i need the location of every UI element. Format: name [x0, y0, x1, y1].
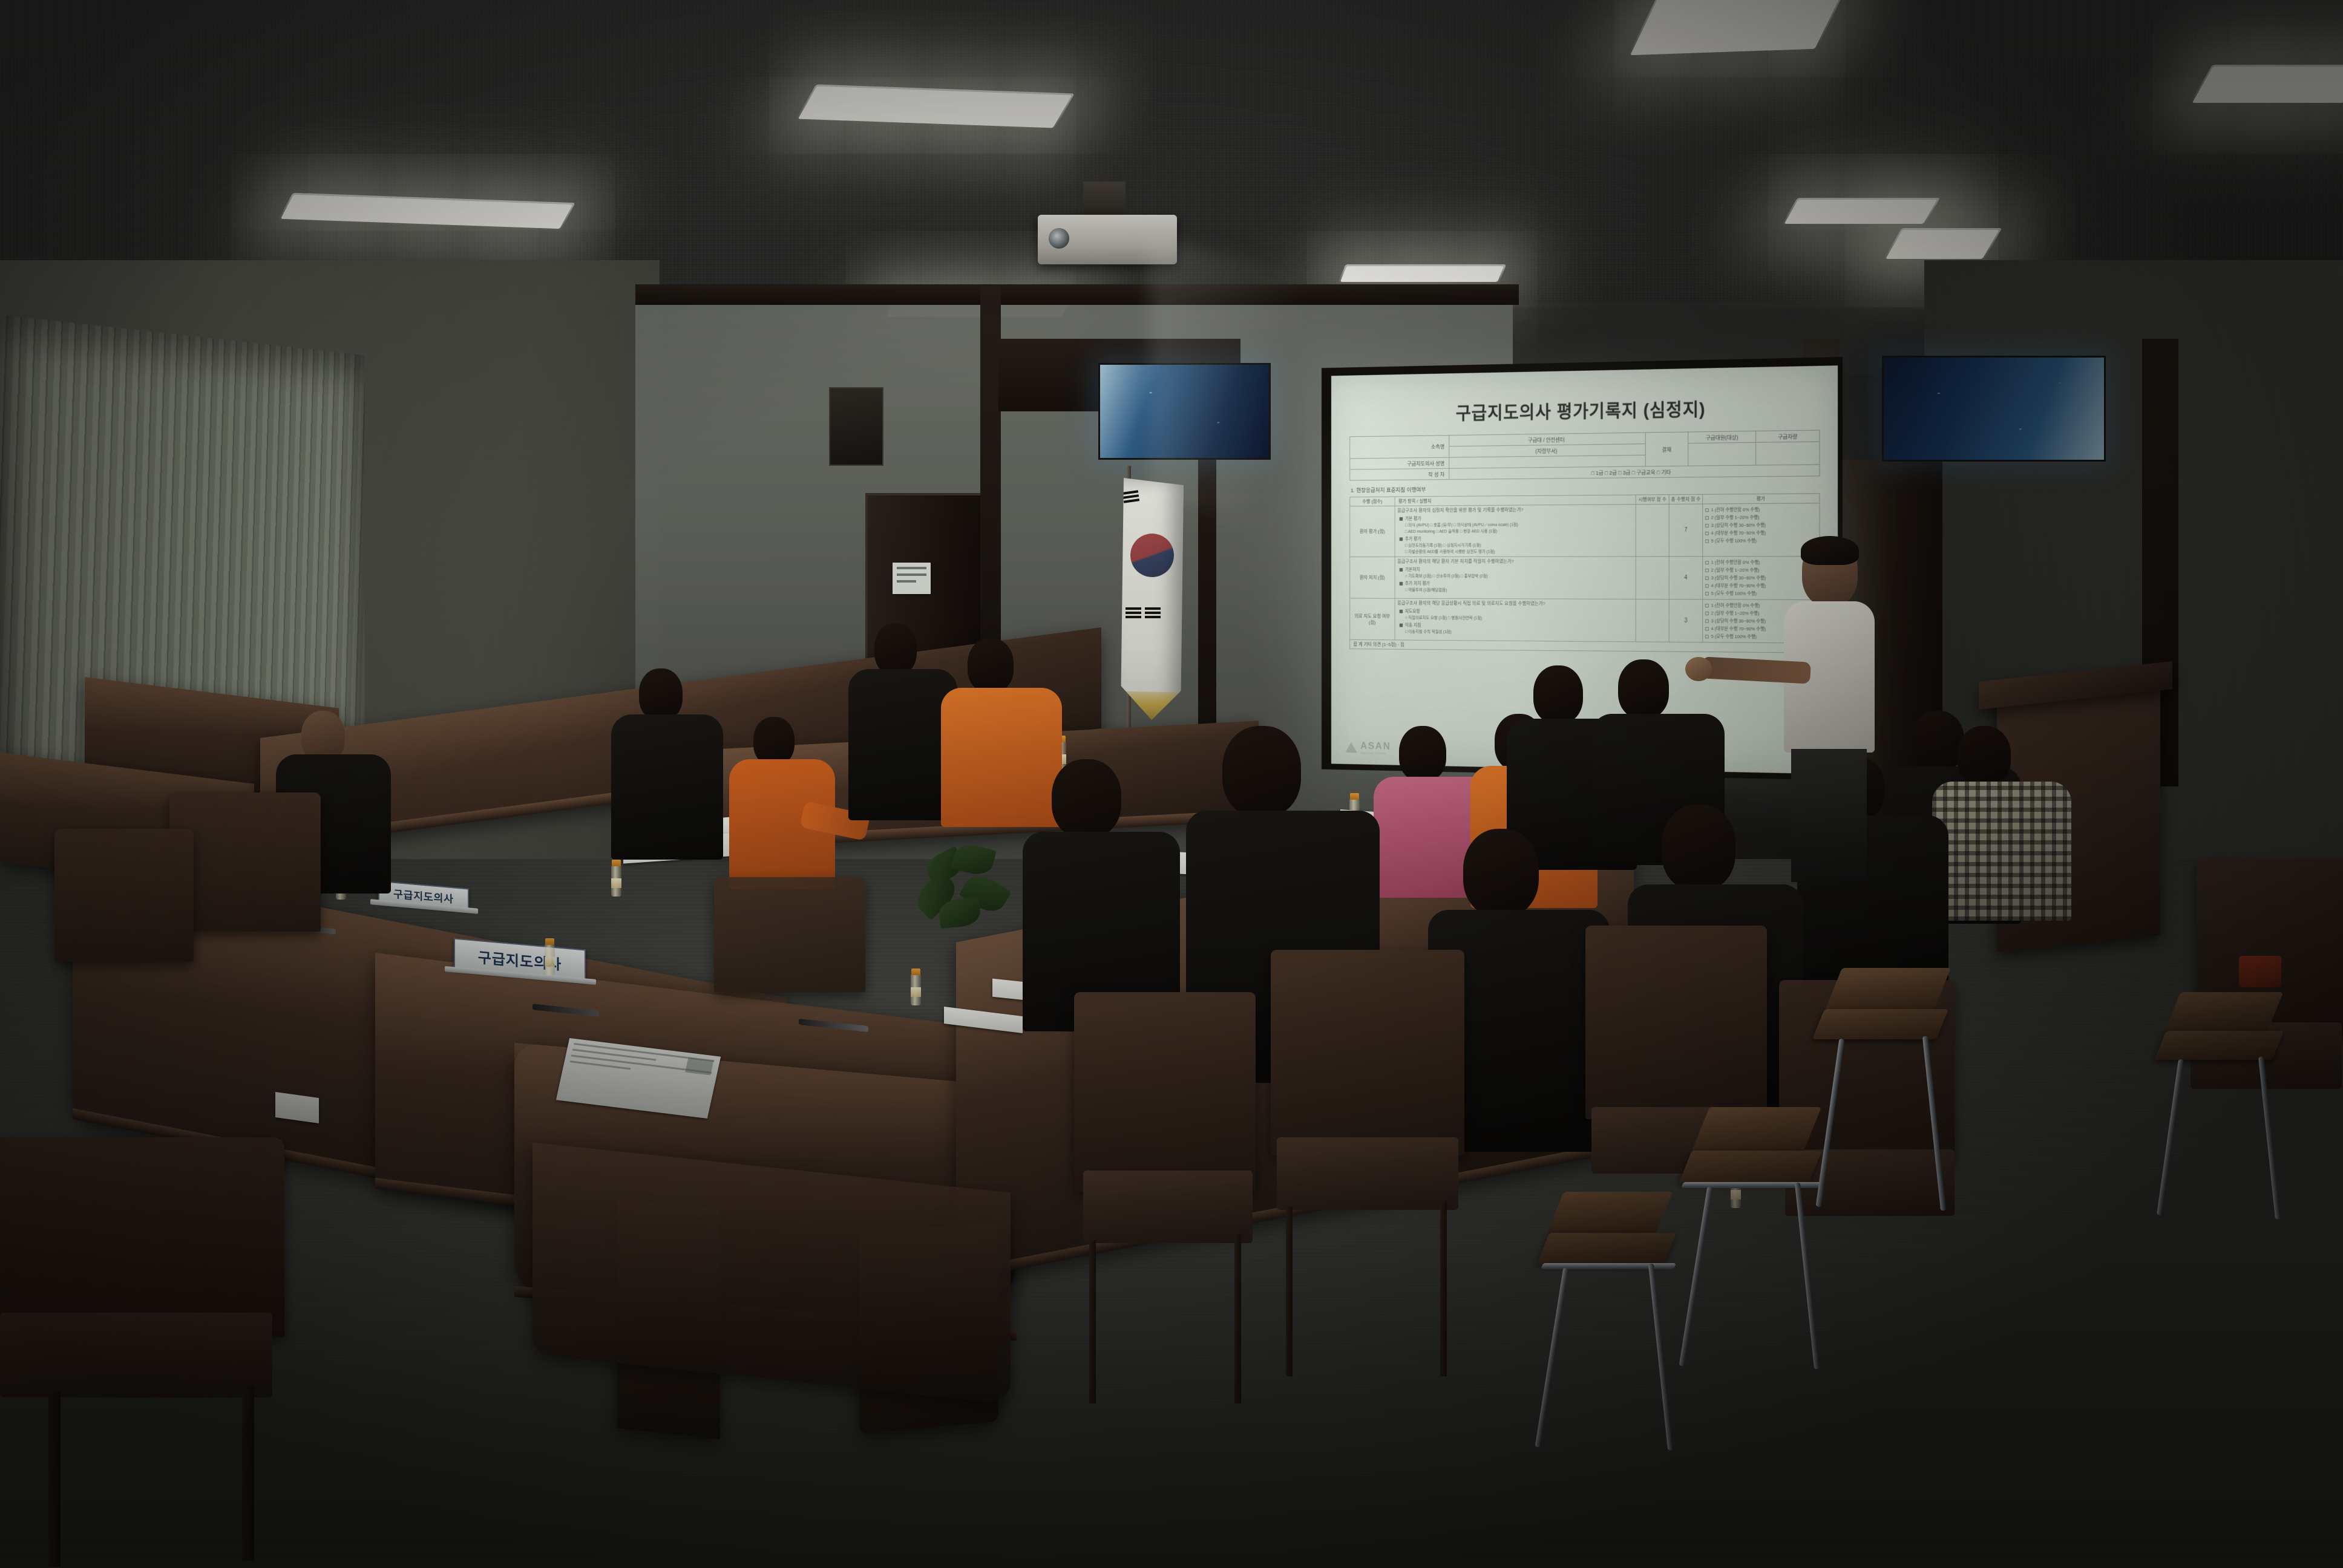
col-head-4: 평가: [1703, 494, 1820, 504]
ceiling-light-1: [1630, 0, 1843, 55]
hdr-cell-approval: 결재: [1645, 432, 1688, 466]
row1-detail: 응급구조사 환자의 해당 환자 기본 처치를 적절히 수행하였는가? 기본처치 …: [1395, 557, 1636, 599]
row1-bullet0-head: 기본처치: [1400, 566, 1633, 573]
row1-opt-2: 3 (상당히 수행 30~60% 수행): [1705, 575, 1817, 581]
wall-trim-horizontal: [635, 284, 1519, 305]
attendee-head: [1052, 759, 1121, 838]
chair-seat[interactable]: [0, 1313, 272, 1397]
ceiling-light-5: [1340, 266, 1504, 282]
slide-content: 구급지도의사 평가기록지 (심정지) 소속명 구급대 / 안전센터 결재 구급대…: [1331, 365, 1838, 774]
col-head-3: 총 수행자 점 수: [1669, 494, 1703, 504]
hdr-row-1-label: 구급지도의사 성명: [1350, 457, 1449, 469]
folding-chair-frame: [1681, 1182, 1823, 1188]
row0-check-score: [1636, 504, 1669, 557]
wooden-armchair[interactable]: [1585, 926, 1767, 1119]
hdr-cell-org: 소속명: [1350, 436, 1449, 459]
row1-bullet1-head: 추가 처치 평가: [1400, 580, 1633, 587]
taeguk-symbol: [1130, 534, 1174, 577]
row0-opt-0: 1 (전혀 수행안함 0% 수행): [1705, 506, 1817, 513]
trigram-top-left: [1122, 490, 1139, 503]
chair-seat[interactable]: [1277, 1137, 1458, 1210]
chair-leg: [242, 1385, 254, 1561]
presenter-hand: [1685, 657, 1712, 681]
hdr-row-2-label: 작 성 자: [1350, 468, 1449, 480]
row2-detail: 응급구조사 환자의 해당 응급상황시 직접 의료 및 의료지도 요청을 수행하였…: [1395, 598, 1636, 642]
chair-leg: [1234, 1234, 1241, 1403]
projector-lens: [1049, 228, 1069, 249]
wooden-armchair[interactable]: [0, 1137, 284, 1337]
row0-bullet0-sub0: □ 의식 (AVPU) □ 호흡 (유/무) □ 의식상태 (AVPU／coma…: [1405, 521, 1633, 528]
row0-opt-1: 2 (일부 수행 1~20% 수행): [1705, 514, 1817, 521]
col-head-2: 시행여부 점 수: [1636, 495, 1669, 505]
wall-speaker: [829, 387, 883, 466]
attendee-head: [1222, 726, 1301, 817]
row1-opt-0: 1 (전혀 수행안함 0% 수행): [1705, 559, 1817, 566]
attendee-body: [1932, 782, 2071, 921]
row1-opt-3: 4 (대부분 수행 70~90% 수행): [1705, 583, 1817, 589]
red-item-on-chair: [2239, 956, 2281, 987]
folding-chair-seat: [1536, 1233, 1676, 1264]
attendee-head: [1911, 711, 1964, 771]
folding-chair-frame: [1541, 1263, 1676, 1269]
potted-plant: [908, 841, 1023, 950]
attendee-head: [753, 717, 795, 765]
projection-screen[interactable]: 구급지도의사 평가기록지 (심정지) 소속명 구급대 / 안전센터 결재 구급대…: [1331, 365, 1838, 774]
ceiling-projector: [1038, 215, 1177, 264]
trigram-bottom-right: [1145, 607, 1161, 618]
folding-chair-back: [1691, 1107, 1821, 1152]
row2-bullet1-sub0: □ 이송지침 수칙 적절성 (1점): [1405, 629, 1633, 636]
projector-mount: [1083, 181, 1126, 219]
hdr-cell-vehicle: 구급차량: [1756, 430, 1820, 442]
ceiling-light-8: [2192, 67, 2343, 103]
chair-leg: [1440, 1201, 1447, 1376]
wooden-armchair[interactable]: [54, 829, 194, 962]
attendee-head: [639, 668, 683, 720]
row0-score: 7: [1669, 504, 1703, 557]
row1-bullet0-sub0: ○ 기도확보 (1점) □ 산소투여 (2점) □ 흉부압박 (2점): [1405, 573, 1633, 580]
attendee-head: [1463, 829, 1539, 916]
slide-table-row: 환자 처치 (점) 응급구조사 환자의 해당 환자 기본 처치를 적절히 수행하…: [1350, 557, 1820, 600]
row0-opt-3: 4 (대부분 수행 70~90% 수행): [1705, 529, 1817, 537]
wooden-armchair[interactable]: [714, 877, 865, 992]
slide-main-table: 수행 (점수) 평가 항목 / 실행지 시행여부 점 수 총 수행자 점 수 평…: [1349, 493, 1820, 653]
door-notice-sign: [893, 563, 931, 594]
decor-panel-right: [1882, 356, 2106, 462]
attendee-head: [1399, 726, 1446, 782]
row0-opt-4: 5 (모두 수행 100% 수행): [1705, 537, 1817, 544]
water-bottle[interactable]: [545, 944, 555, 975]
chair-leg: [48, 1391, 61, 1567]
hdr-cell-crew: 구급대원(대상): [1688, 431, 1756, 443]
asan-logo-text: ASAN: [1360, 740, 1391, 753]
row0-bullet1-sub1: □ 자발순환의 AED를 사용하여 시행한 심전도 평가 (1점): [1405, 549, 1633, 555]
slide-table-row: 의료 지도 요청 여부 (점) 응급구조사 환자의 해당 응급상황시 직접 의료…: [1350, 598, 1820, 643]
row0-bullet1-sub0: □ 심전도리듬기록 (1점) □ 심정지시각기록 (1점): [1405, 542, 1633, 549]
wooden-armchair[interactable]: [1074, 992, 1256, 1192]
row1-opt-4: 5 (모두 수행 100% 수행): [1705, 590, 1817, 597]
attendee-head: [968, 638, 1014, 693]
attendee-head: [1958, 726, 2011, 786]
row1-check-score: [1636, 557, 1669, 599]
projection-screen-frame: 구급지도의사 평가기록지 (심정지) 소속명 구급대 / 안전센터 결재 구급대…: [1322, 357, 1843, 780]
slide-title: 구급지도의사 평가기록지 (심정지): [1349, 393, 1820, 426]
chair-leg: [1286, 1207, 1293, 1376]
decor-panel-left: [1098, 363, 1271, 460]
conference-room-scene: 구급지도의사 평가기록지 (심정지) 소속명 구급대 / 안전센터 결재 구급대…: [0, 0, 2343, 1568]
presenter-legs: [1791, 749, 1867, 882]
row0-bullet0-head: 기본 평가: [1400, 514, 1633, 522]
water-bottle[interactable]: [911, 974, 921, 1005]
korean-flag: [1117, 478, 1184, 720]
chair-seat[interactable]: [1083, 1171, 1253, 1243]
presenter-hair: [1801, 536, 1859, 565]
row1-opt-1: 2 (일부 수행 1~20% 수행): [1705, 567, 1817, 573]
attendee-body: [611, 714, 723, 860]
asan-logo-subtext: Medical Center: [1360, 752, 1391, 756]
row0-question: 응급구조사 환자의 심정지 확인을 위한 평가 및 기록을 수행하였는가?: [1397, 506, 1633, 514]
attendee-body: [941, 688, 1062, 827]
folding-chair-back: [1825, 968, 1951, 1010]
chair-leg: [1089, 1240, 1096, 1403]
ceiling-light-6: [1886, 230, 1999, 259]
row2-bullet0-sub0: ○ 직접의료지도 요청 (1점) □ 병원사전연락 (1점): [1405, 615, 1633, 622]
slide-section-label: 1. 현장응급처치 표준지침 이행여부: [1351, 482, 1820, 494]
row0-category: 환자 평가 (점): [1350, 506, 1395, 557]
attendee-head: [874, 623, 917, 675]
row0-opt-2: 3 (상당히 수행 30~60% 수행): [1705, 521, 1817, 529]
folding-chair-seat: [2154, 1031, 2284, 1060]
asan-logo: ASAN Medical Center: [1345, 740, 1391, 756]
row2-score: 3: [1669, 599, 1703, 642]
trigram-bottom-left: [1126, 607, 1141, 618]
folding-chair-back: [1547, 1192, 1673, 1234]
row0-bullet1-head: 추가 평가: [1400, 535, 1633, 542]
wooden-armchair[interactable]: [1271, 950, 1464, 1155]
row1-score: 4: [1669, 557, 1703, 599]
folding-chair-back: [2164, 992, 2284, 1032]
ceiling-light-7: [1784, 200, 1937, 224]
row1-category: 환자 처치 (점): [1350, 557, 1395, 598]
row2-check-score: [1636, 599, 1669, 642]
row2-question: 응급구조사 환자의 해당 응급상황시 직접 의료 및 의료지도 요청을 수행하였…: [1397, 600, 1633, 607]
asan-triangle-icon: [1345, 742, 1357, 753]
slide-header-table: 소속명 구급대 / 안전센터 결재 구급대원(대상) 구급차량 (지령부서) 구…: [1349, 430, 1820, 481]
slide-table-row: 환자 평가 (점) 응급구조사 환자의 심정지 확인을 위한 평가 및 기록을 …: [1350, 503, 1820, 557]
row0-detail: 응급구조사 환자의 심정지 확인을 위한 평가 및 기록을 수행하였는가? 기본…: [1395, 505, 1636, 557]
row2-category: 의료 지도 요청 여부 (점): [1350, 598, 1395, 640]
row1-question: 응급구조사 환자의 해당 환자 기본 처치를 적절히 수행하였는가?: [1397, 558, 1633, 564]
attendee-head: [1618, 659, 1669, 719]
folding-chair-seat: [1679, 1151, 1822, 1183]
attendee-head: [1533, 665, 1583, 724]
row1-bullet1-sub0: □ 약물투여 (1점/해당없음): [1405, 587, 1633, 594]
row0-bullet0-sub1: □ AED monitoring □ AED 술적용 □ 현장 AED 사용 (…: [1405, 528, 1633, 534]
col-head-0: 수행 (점수): [1350, 497, 1395, 506]
water-bottle[interactable]: [611, 865, 621, 897]
folding-chair-seat: [1812, 1009, 1948, 1039]
attendee-head: [1662, 805, 1735, 890]
row2-bullet0-head: 지도요청: [1400, 608, 1633, 615]
